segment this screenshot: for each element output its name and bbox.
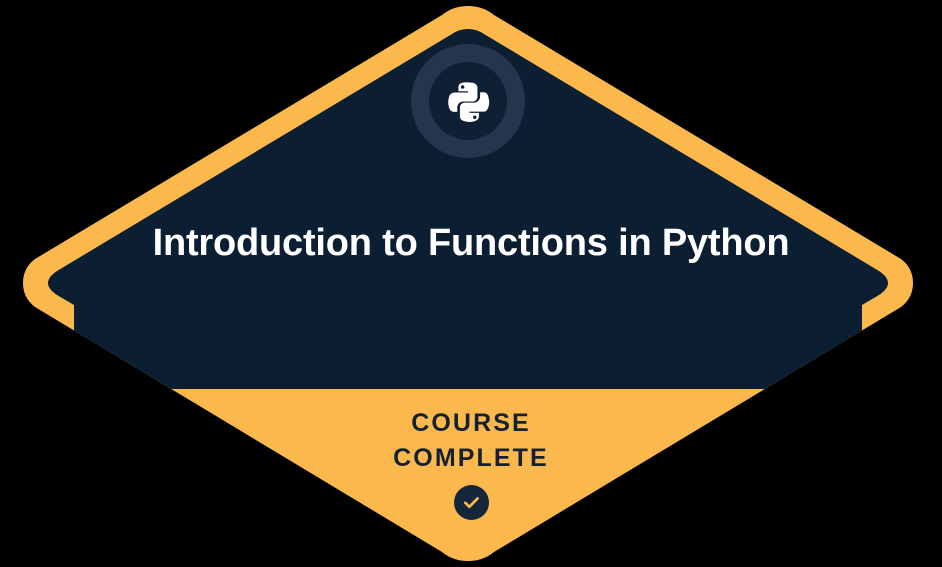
python-emblem-inner — [429, 62, 507, 140]
course-title: Introduction to Functions in Python — [131, 220, 811, 266]
badge-stage: Introduction to Functions in Python COUR… — [0, 0, 942, 567]
python-emblem — [411, 44, 525, 158]
completion-label-line2: COMPLETE — [221, 441, 721, 476]
python-logo-icon — [446, 79, 490, 123]
completion-block: COURSE COMPLETE — [221, 406, 721, 520]
check-circle-icon — [454, 485, 489, 520]
check-mark-icon — [462, 493, 481, 512]
completion-label-line1: COURSE — [221, 406, 721, 441]
